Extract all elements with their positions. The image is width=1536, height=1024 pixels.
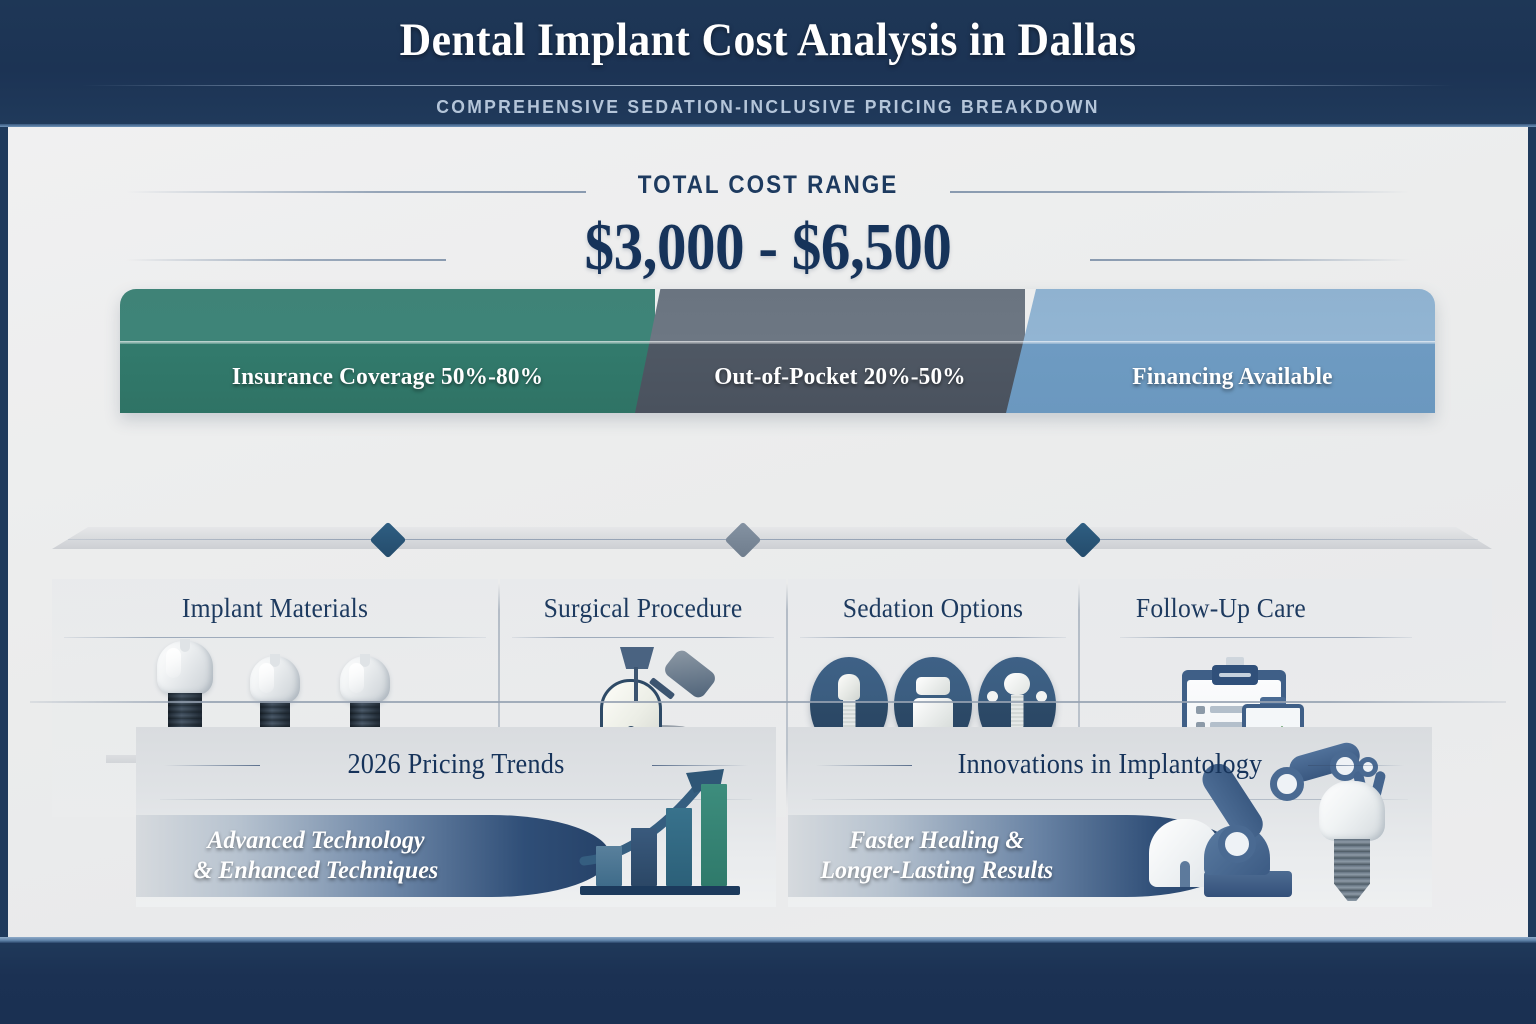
coverage-segment-insurance[interactable]: Insurance Coverage 50%-80% xyxy=(120,289,655,413)
clipboard-clamp xyxy=(1212,665,1258,685)
coverage-segment-label: Financing Available xyxy=(1029,363,1435,391)
page-title: Dental Implant Cost Analysis in Dallas xyxy=(54,13,1482,67)
crown-shape xyxy=(1319,781,1385,841)
cost-value-row: $3,000 - $6,500 xyxy=(8,213,1528,293)
chart-bar xyxy=(596,846,622,886)
header-divider xyxy=(82,85,1454,86)
crown-shape xyxy=(250,656,300,703)
robot-joint xyxy=(1218,825,1256,863)
coverage-segment-out-of-pocket[interactable]: Out-of-Pocket 20%-50% xyxy=(635,289,1025,413)
vial-cap xyxy=(916,677,950,695)
growth-chart-icon xyxy=(578,765,746,895)
body-panel: TOTAL COST RANGE $3,000 - $6,500 Insuran… xyxy=(0,127,1536,937)
chart-bar xyxy=(666,808,692,886)
panel-title: Innovations in Implantology xyxy=(807,749,1412,781)
section-divider xyxy=(30,701,1506,703)
category-underline xyxy=(512,637,774,638)
surgical-post-shape xyxy=(620,647,654,669)
chart-bar xyxy=(701,784,727,886)
category-underline xyxy=(64,637,486,638)
coverage-segment-financing[interactable]: Financing Available xyxy=(1006,289,1435,413)
category-underline xyxy=(1120,637,1412,638)
abutment-glyph xyxy=(1004,673,1030,735)
panel-innovations[interactable]: Innovations in Implantology Faster Heali… xyxy=(788,727,1432,907)
panel-banner: Advanced Technology & Enhanced Technique… xyxy=(136,815,610,897)
category-underline xyxy=(800,637,1066,638)
abutment-head xyxy=(1004,673,1030,695)
coverage-bar-shelf xyxy=(52,527,1492,549)
crown-shape xyxy=(340,656,390,703)
implant-icon xyxy=(1316,781,1388,901)
panel-banner-text: Advanced Technology & Enhanced Technique… xyxy=(143,826,489,887)
header-banner: Dental Implant Cost Analysis in Dallas C… xyxy=(0,0,1536,127)
page-subtitle: COMPREHENSIVE SEDATION-INCLUSIVE PRICING… xyxy=(38,96,1497,118)
total-cost-section: TOTAL COST RANGE $3,000 - $6,500 xyxy=(8,167,1528,287)
panel-pricing-trends[interactable]: 2026 Pricing Trends Advanced Technology … xyxy=(136,727,776,907)
panel-title: 2026 Pricing Trends xyxy=(155,749,757,781)
category-title: Follow-Up Care xyxy=(1090,593,1481,624)
surgical-post-rod xyxy=(634,667,638,701)
footer-banner xyxy=(0,937,1536,1024)
total-cost-label: TOTAL COST RANGE xyxy=(84,171,1452,200)
category-title: Surgical Procedure xyxy=(507,593,779,624)
coverage-segment-label: Out-of-Pocket 20%-50% xyxy=(655,363,1026,391)
screw-shape xyxy=(1334,839,1370,901)
coverage-bar: Insurance Coverage 50%-80% Out-of-Pocket… xyxy=(120,289,1435,413)
bottom-row: 2026 Pricing Trends Advanced Technology … xyxy=(8,727,1528,917)
panel-banner-text: Faster Healing & Longer-Lasting Results xyxy=(794,826,1080,887)
category-title: Implant Materials xyxy=(63,593,487,624)
chart-baseline xyxy=(580,886,740,895)
infographic-root: Dental Implant Cost Analysis in Dallas C… xyxy=(0,0,1536,1024)
crown-shape xyxy=(838,674,860,700)
cost-label-row: TOTAL COST RANGE xyxy=(8,167,1528,207)
total-cost-value: $3,000 - $6,500 xyxy=(99,209,1437,286)
coverage-shelf-line xyxy=(68,539,1478,540)
crown-shape xyxy=(157,641,213,695)
chart-bar xyxy=(631,828,657,886)
coverage-segment-label: Insurance Coverage 50%-80% xyxy=(133,363,641,391)
checklist-box xyxy=(1196,706,1205,714)
category-title: Sedation Options xyxy=(795,593,1071,624)
